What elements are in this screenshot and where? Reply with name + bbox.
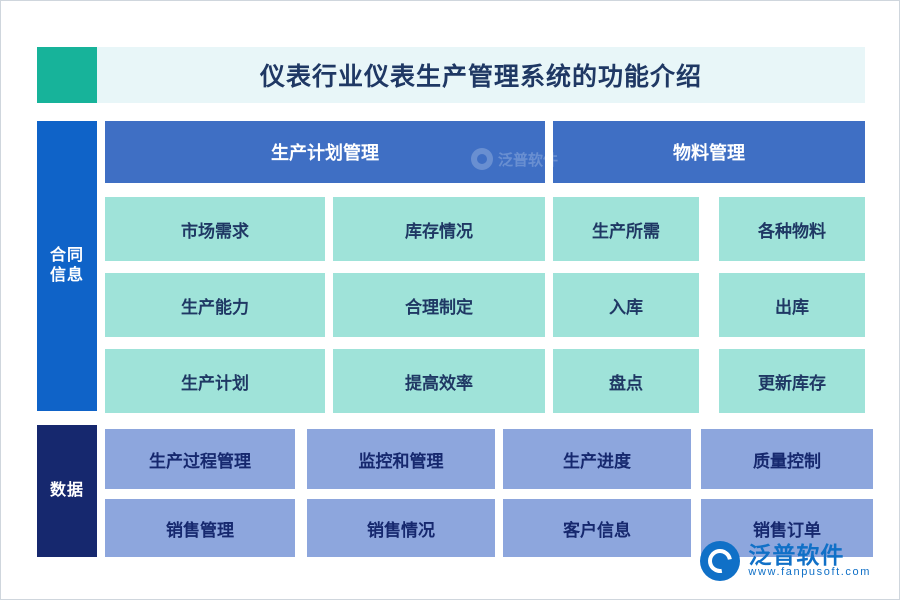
cell-peri-r0-c1[interactable]: 监控和管理	[307, 429, 495, 489]
cell-mint-r0-c0[interactable]: 市场需求	[105, 197, 325, 261]
cell-peri-r0-c2[interactable]: 生产进度	[503, 429, 691, 489]
side-label-contract: 合同 信息	[37, 121, 97, 411]
brand-logo-text: 泛普软件 www.fanpusoft.com	[748, 543, 871, 579]
cell-peri-r0-c3[interactable]: 质量控制	[701, 429, 873, 489]
side-label-data: 数据	[37, 425, 97, 557]
cell-mint-r1-c3[interactable]: 出库	[719, 273, 865, 337]
cell-peri-r1-c0[interactable]: 销售管理	[105, 499, 295, 557]
header-material[interactable]: 物料管理	[553, 121, 865, 183]
brand-url: www.fanpusoft.com	[748, 567, 871, 579]
cell-peri-r0-c0[interactable]: 生产过程管理	[105, 429, 295, 489]
page-title: 仪表行业仪表生产管理系统的功能介绍	[260, 57, 702, 93]
side-label-contract-line1: 合同	[50, 246, 84, 266]
header-production-plan[interactable]: 生产计划管理	[105, 121, 545, 183]
cell-peri-r1-c2[interactable]: 客户信息	[503, 499, 691, 557]
infographic-canvas: 仪表行业仪表生产管理系统的功能介绍 合同 信息 数据 生产计划管理 物料管理 泛…	[0, 0, 900, 600]
brand-logo-icon	[700, 541, 740, 581]
brand-name-cn: 泛普软件	[748, 543, 871, 567]
cell-mint-r2-c2[interactable]: 盘点	[553, 349, 699, 413]
cell-mint-r0-c3[interactable]: 各种物料	[719, 197, 865, 261]
cell-peri-r1-c1[interactable]: 销售情况	[307, 499, 495, 557]
side-label-data-line1: 数据	[50, 481, 84, 501]
cell-mint-r2-c0[interactable]: 生产计划	[105, 349, 325, 413]
cell-mint-r1-c1[interactable]: 合理制定	[333, 273, 545, 337]
title-accent-badge	[37, 47, 97, 103]
cell-mint-r0-c2[interactable]: 生产所需	[553, 197, 699, 261]
cell-mint-r2-c1[interactable]: 提高效率	[333, 349, 545, 413]
brand-logo: 泛普软件 www.fanpusoft.com	[700, 541, 871, 581]
title-bar: 仪表行业仪表生产管理系统的功能介绍	[97, 47, 865, 103]
title-row: 仪表行业仪表生产管理系统的功能介绍	[37, 47, 865, 103]
side-label-contract-line2: 信息	[50, 266, 84, 286]
cell-mint-r2-c3[interactable]: 更新库存	[719, 349, 865, 413]
cell-mint-r0-c1[interactable]: 库存情况	[333, 197, 545, 261]
cell-mint-r1-c2[interactable]: 入库	[553, 273, 699, 337]
cell-mint-r1-c0[interactable]: 生产能力	[105, 273, 325, 337]
